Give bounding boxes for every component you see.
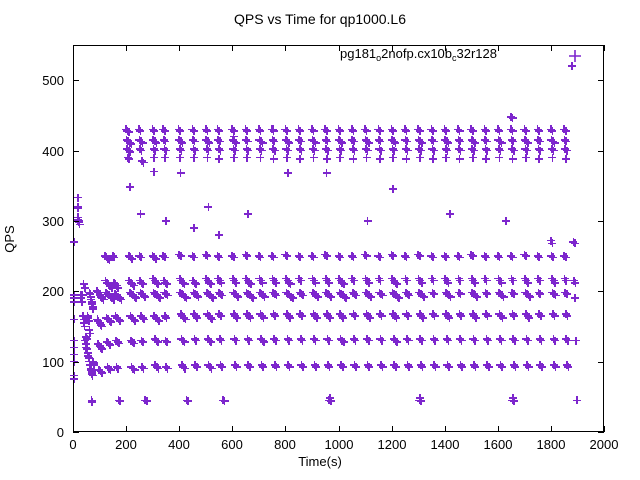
scatter-point — [326, 394, 334, 402]
scatter-point — [162, 314, 170, 322]
scatter-point — [269, 125, 277, 133]
legend-text-sub-2: c — [452, 53, 457, 63]
scatter-point — [325, 363, 333, 371]
scatter-point — [247, 280, 255, 288]
legend-text-part-3: 32r128 — [457, 46, 497, 61]
scatter-point — [141, 293, 149, 301]
legend-text-part-1: pg181 — [340, 46, 376, 61]
x-tick-mark-top — [285, 45, 286, 51]
scatter-point — [336, 154, 344, 162]
scatter-point — [259, 279, 267, 287]
scatter-point — [181, 365, 189, 373]
x-tick-mark — [392, 426, 393, 432]
x-tick-label: 600 — [202, 438, 262, 451]
scatter-point — [431, 312, 439, 320]
scatter-point — [194, 293, 202, 301]
scatter-point — [190, 127, 198, 135]
scatter-point — [260, 314, 268, 322]
x-tick-label: 1600 — [468, 438, 528, 451]
scatter-point — [324, 147, 332, 155]
scatter-point — [404, 147, 412, 155]
scatter-point — [286, 314, 294, 322]
scatter-point — [218, 363, 226, 371]
scatter-point — [246, 363, 254, 371]
scatter-point — [378, 312, 386, 320]
scatter-point — [430, 277, 438, 285]
scatter-point — [83, 335, 91, 343]
legend-entry-label: pg181o2nofp.cx10bc32r128 — [340, 46, 497, 63]
scatter-point — [564, 337, 572, 345]
scatter-point — [484, 312, 492, 320]
scatter-point — [234, 293, 242, 301]
scatter-point — [349, 253, 357, 261]
scatter-point — [117, 296, 125, 304]
scatter-point — [283, 252, 291, 260]
scatter-point — [272, 337, 280, 345]
scatter-point — [551, 312, 559, 320]
scatter-point — [548, 154, 556, 162]
scatter-point — [114, 365, 122, 373]
scatter-point — [405, 363, 413, 371]
scatter-point — [215, 127, 223, 135]
scatter-point — [535, 253, 543, 261]
x-tick-mark — [126, 426, 127, 432]
scatter-point — [444, 279, 452, 287]
scatter-point — [310, 253, 318, 261]
scatter-point — [270, 155, 278, 163]
x-tick-label: 200 — [96, 438, 156, 451]
scatter-point — [511, 363, 519, 371]
scatter-point — [472, 314, 480, 322]
legend-text-sub-1: o — [376, 53, 381, 63]
scatter-point — [552, 363, 560, 371]
scatter-point — [350, 277, 358, 285]
scatter-point — [260, 338, 268, 346]
scatter-point — [571, 239, 579, 247]
scatter-point — [458, 363, 466, 371]
scatter-point — [446, 210, 454, 218]
scatter-point — [389, 185, 397, 193]
scatter-point — [125, 155, 133, 163]
scatter-point — [522, 252, 530, 260]
scatter-point — [177, 169, 185, 177]
scatter-point — [221, 397, 229, 405]
scatter-point — [376, 253, 384, 261]
scatter-point — [535, 127, 543, 135]
scatter-point — [217, 279, 225, 287]
scatter-point — [325, 279, 333, 287]
scatter-point — [430, 290, 438, 298]
scatter-point — [404, 312, 412, 320]
y-tick-mark — [73, 362, 79, 363]
scatter-point — [184, 397, 192, 405]
scatter-point — [181, 338, 189, 346]
y-tick-label: 300 — [18, 215, 64, 228]
scatter-point — [563, 312, 571, 320]
scatter-point — [163, 280, 171, 288]
scatter-point — [562, 277, 570, 285]
scatter-point — [379, 363, 387, 371]
scatter-point — [377, 147, 385, 155]
scatter-point — [548, 127, 556, 135]
scatter-point — [349, 127, 357, 135]
y-tick-mark-right — [598, 221, 604, 222]
scatter-point — [564, 363, 572, 371]
scatter-point — [393, 280, 401, 288]
scatter-point — [405, 337, 413, 345]
scatter-point — [70, 375, 78, 383]
scatter-point — [416, 127, 424, 135]
x-tick-label: 0 — [43, 438, 103, 451]
scatter-point — [192, 337, 200, 345]
scatter-point — [163, 338, 171, 346]
scatter-point — [402, 253, 410, 261]
scatter-point — [137, 210, 145, 218]
scatter-point — [484, 337, 492, 345]
scatter-point — [217, 312, 225, 320]
scatter-point — [551, 279, 559, 287]
scatter-point — [310, 127, 318, 135]
scatter-point — [272, 291, 280, 299]
scatter-point — [485, 363, 493, 371]
scatter-point — [445, 363, 453, 371]
scatter-point — [256, 253, 264, 261]
scatter-point — [456, 155, 464, 163]
scatter-point — [299, 291, 307, 299]
x-tick-mark-top — [126, 45, 127, 51]
scatter-point — [376, 127, 384, 135]
x-tick-mark-top — [73, 45, 74, 51]
scatter-point — [88, 398, 96, 406]
scatter-point — [70, 315, 78, 323]
scatter-point — [161, 253, 169, 261]
scatter-point — [190, 253, 198, 261]
scatter-point — [164, 291, 172, 299]
x-tick-mark — [604, 426, 605, 432]
scatter-point — [447, 293, 455, 301]
scatter-point — [310, 154, 318, 162]
scatter-point — [432, 363, 440, 371]
scatter-point — [548, 239, 556, 247]
scatter-point — [297, 147, 305, 155]
scatter-point — [418, 363, 426, 371]
scatter-point — [365, 279, 373, 287]
scatter-point — [363, 154, 371, 162]
scatter-point — [418, 279, 426, 287]
y-tick-mark — [73, 221, 79, 222]
scatter-point — [297, 277, 305, 285]
scatter-point — [137, 147, 145, 155]
scatter-point — [495, 127, 503, 135]
scatter-point — [456, 277, 464, 285]
scatter-point — [243, 127, 251, 135]
x-tick-mark — [73, 426, 74, 432]
y-tick-mark — [73, 80, 79, 81]
scatter-point — [352, 363, 360, 371]
scatter-point — [445, 314, 453, 322]
x-tick-label: 400 — [149, 438, 209, 451]
scatter-point — [271, 147, 279, 155]
scatter-point — [312, 363, 320, 371]
scatter-point — [339, 363, 347, 371]
y-axis-label: QPS — [3, 207, 17, 271]
y-tick-mark-right — [598, 291, 604, 292]
scatter-point — [296, 155, 304, 163]
x-tick-mark — [445, 426, 446, 432]
x-tick-mark-top — [551, 45, 552, 51]
scatter-point — [313, 314, 321, 322]
scatter-point — [283, 154, 291, 162]
scatter-point — [230, 154, 238, 162]
scatter-point — [323, 155, 331, 163]
scatter-point — [245, 337, 253, 345]
scatter-point — [140, 159, 148, 167]
scatter-point — [351, 312, 359, 320]
scatter-point — [402, 127, 410, 135]
scatter-point — [456, 127, 464, 135]
scatter-point — [538, 363, 546, 371]
x-tick-mark — [285, 426, 286, 432]
scatter-point — [444, 337, 452, 345]
scatter-point — [176, 154, 184, 162]
scatter-point — [207, 338, 215, 346]
scatter-point — [271, 312, 279, 320]
scatter-point — [482, 253, 490, 261]
scatter-point — [203, 252, 211, 260]
scatter-point — [563, 147, 571, 155]
scatter-point — [323, 169, 331, 177]
scatter-point — [430, 147, 438, 155]
scatter-point — [522, 127, 530, 135]
scatter-point — [298, 337, 306, 345]
scatter-point — [416, 394, 424, 402]
scatter-point — [296, 253, 304, 261]
scatter-point — [562, 253, 570, 261]
scatter-point — [378, 337, 386, 345]
scatter-point — [509, 394, 517, 402]
scatter-point — [483, 147, 491, 155]
x-tick-mark-top — [498, 45, 499, 51]
scatter-point — [336, 253, 344, 261]
x-tick-mark-top — [604, 45, 605, 51]
scatter-point — [364, 217, 372, 225]
x-tick-label: 1000 — [309, 438, 369, 451]
scatter-point — [261, 293, 269, 301]
scatter-point — [161, 127, 169, 135]
x-tick-label: 1200 — [362, 438, 422, 451]
scatter-point — [416, 252, 424, 260]
scatter-point — [284, 169, 292, 177]
chart-root: QPS vs Time for qp1000.L6 01002003004005… — [0, 0, 640, 480]
scatter-point — [376, 155, 384, 163]
scatter-point — [215, 155, 223, 163]
scatter-point — [526, 293, 534, 301]
scatter-point — [218, 291, 226, 299]
scatter-point — [190, 224, 198, 232]
scatter-point — [418, 337, 426, 345]
y-tick-mark-right — [598, 362, 604, 363]
y-tick-mark-right — [598, 432, 604, 433]
scatter-point — [509, 253, 517, 261]
scatter-point — [457, 147, 465, 155]
scatter-points-layer — [0, 0, 640, 480]
y-tick-mark-right — [598, 80, 604, 81]
scatter-point — [429, 127, 437, 135]
scatter-point — [283, 127, 291, 135]
scatter-point — [193, 363, 201, 371]
scatter-point — [469, 127, 477, 135]
scatter-point — [405, 291, 413, 299]
scatter-point — [471, 363, 479, 371]
scatter-point — [139, 280, 147, 288]
scatter-point — [500, 293, 508, 301]
scatter-point — [456, 253, 464, 261]
scatter-point — [495, 253, 503, 261]
scatter-point — [536, 277, 544, 285]
y-tick-label: 100 — [18, 356, 64, 369]
scatter-point — [471, 337, 479, 345]
scatter-point — [143, 397, 151, 405]
scatter-point — [389, 127, 397, 135]
scatter-point — [442, 127, 450, 135]
scatter-point — [471, 279, 479, 287]
scatter-point — [115, 339, 123, 347]
scatter-point — [323, 127, 331, 135]
scatter-point — [442, 253, 450, 261]
y-tick-label: 400 — [18, 145, 64, 158]
scatter-point — [215, 253, 223, 261]
scatter-point — [244, 210, 252, 218]
scatter-point — [469, 252, 477, 260]
scatter-point — [510, 312, 518, 320]
scatter-point — [498, 279, 506, 287]
scatter-point — [389, 154, 397, 162]
scatter-point — [150, 127, 158, 135]
scatter-point — [367, 293, 375, 301]
scatter-point — [243, 154, 251, 162]
scatter-point — [256, 154, 264, 162]
scatter-point — [203, 127, 211, 135]
scatter-point — [233, 363, 241, 371]
scatter-point — [509, 277, 517, 285]
scatter-point — [510, 290, 518, 298]
scatter-point — [420, 293, 428, 301]
scatter-point — [164, 365, 172, 373]
scatter-point — [392, 363, 400, 371]
x-tick-mark-top — [179, 45, 180, 51]
scatter-point — [181, 280, 189, 288]
scatter-point — [509, 127, 517, 135]
scatter-point — [126, 183, 134, 191]
scatter-point — [232, 337, 240, 345]
scatter-point — [509, 114, 517, 122]
x-tick-mark — [232, 426, 233, 432]
x-tick-label: 1400 — [415, 438, 475, 451]
scatter-point — [232, 279, 240, 287]
scatter-point — [563, 290, 571, 298]
scatter-point — [339, 314, 347, 322]
y-tick-mark-right — [598, 151, 604, 152]
scatter-point — [139, 338, 147, 346]
scatter-point — [74, 194, 82, 202]
scatter-point — [137, 253, 145, 261]
scatter-point — [312, 279, 320, 287]
scatter-point — [204, 203, 212, 211]
scatter-point — [161, 154, 169, 162]
scatter-point — [457, 312, 465, 320]
scatter-point — [85, 317, 93, 325]
scatter-point — [379, 291, 387, 299]
x-axis-label: Time(s) — [0, 455, 640, 469]
scatter-point — [502, 217, 510, 225]
scatter-point — [536, 290, 544, 298]
x-tick-mark — [179, 426, 180, 432]
scatter-point — [573, 396, 581, 404]
scatter-point — [190, 154, 198, 162]
scatter-point — [537, 312, 545, 320]
scatter-point — [215, 231, 223, 239]
scatter-point — [285, 337, 293, 345]
scatter-point — [549, 253, 557, 261]
scatter-point — [498, 337, 506, 345]
scatter-point — [365, 363, 373, 371]
x-tick-mark-top — [232, 45, 233, 51]
scatter-point — [392, 314, 400, 322]
y-tick-mark — [73, 151, 79, 152]
x-tick-label: 1800 — [521, 438, 581, 451]
scatter-point — [403, 277, 411, 285]
scatter-point — [483, 277, 491, 285]
scatter-point — [217, 337, 225, 345]
scatter-point — [256, 127, 264, 135]
scatter-point — [525, 314, 533, 322]
scatter-point — [482, 127, 490, 135]
scatter-point — [70, 238, 78, 246]
scatter-point — [162, 217, 170, 225]
scatter-point — [193, 314, 201, 322]
scatter-point — [287, 280, 295, 288]
scatter-point — [270, 253, 278, 261]
scatter-point — [349, 155, 357, 163]
scatter-point — [336, 127, 344, 135]
scatter-point — [326, 314, 334, 322]
scatter-point — [323, 252, 331, 260]
scatter-point — [429, 155, 437, 163]
scatter-point — [192, 280, 200, 288]
legend-text-part-2: 2nofp.cx10b — [381, 46, 452, 61]
scatter-point — [524, 279, 532, 287]
scatter-point — [402, 155, 410, 163]
scatter-point — [116, 397, 124, 405]
scatter-point — [182, 315, 190, 323]
scatter-point — [562, 155, 570, 163]
scatter-point — [298, 312, 306, 320]
scatter-point — [572, 337, 580, 345]
scatter-point — [98, 322, 106, 330]
scatter-point — [150, 168, 158, 176]
scatter-point — [296, 127, 304, 135]
scatter-point — [230, 253, 238, 261]
scatter-point — [216, 147, 224, 155]
legend-plus-marker-icon — [568, 49, 582, 63]
scatter-point — [325, 337, 333, 345]
scatter-point — [340, 338, 348, 346]
scatter-point — [314, 293, 322, 301]
scatter-point — [350, 147, 358, 155]
x-tick-mark — [551, 426, 552, 432]
scatter-point — [535, 155, 543, 163]
scatter-point — [272, 279, 280, 287]
